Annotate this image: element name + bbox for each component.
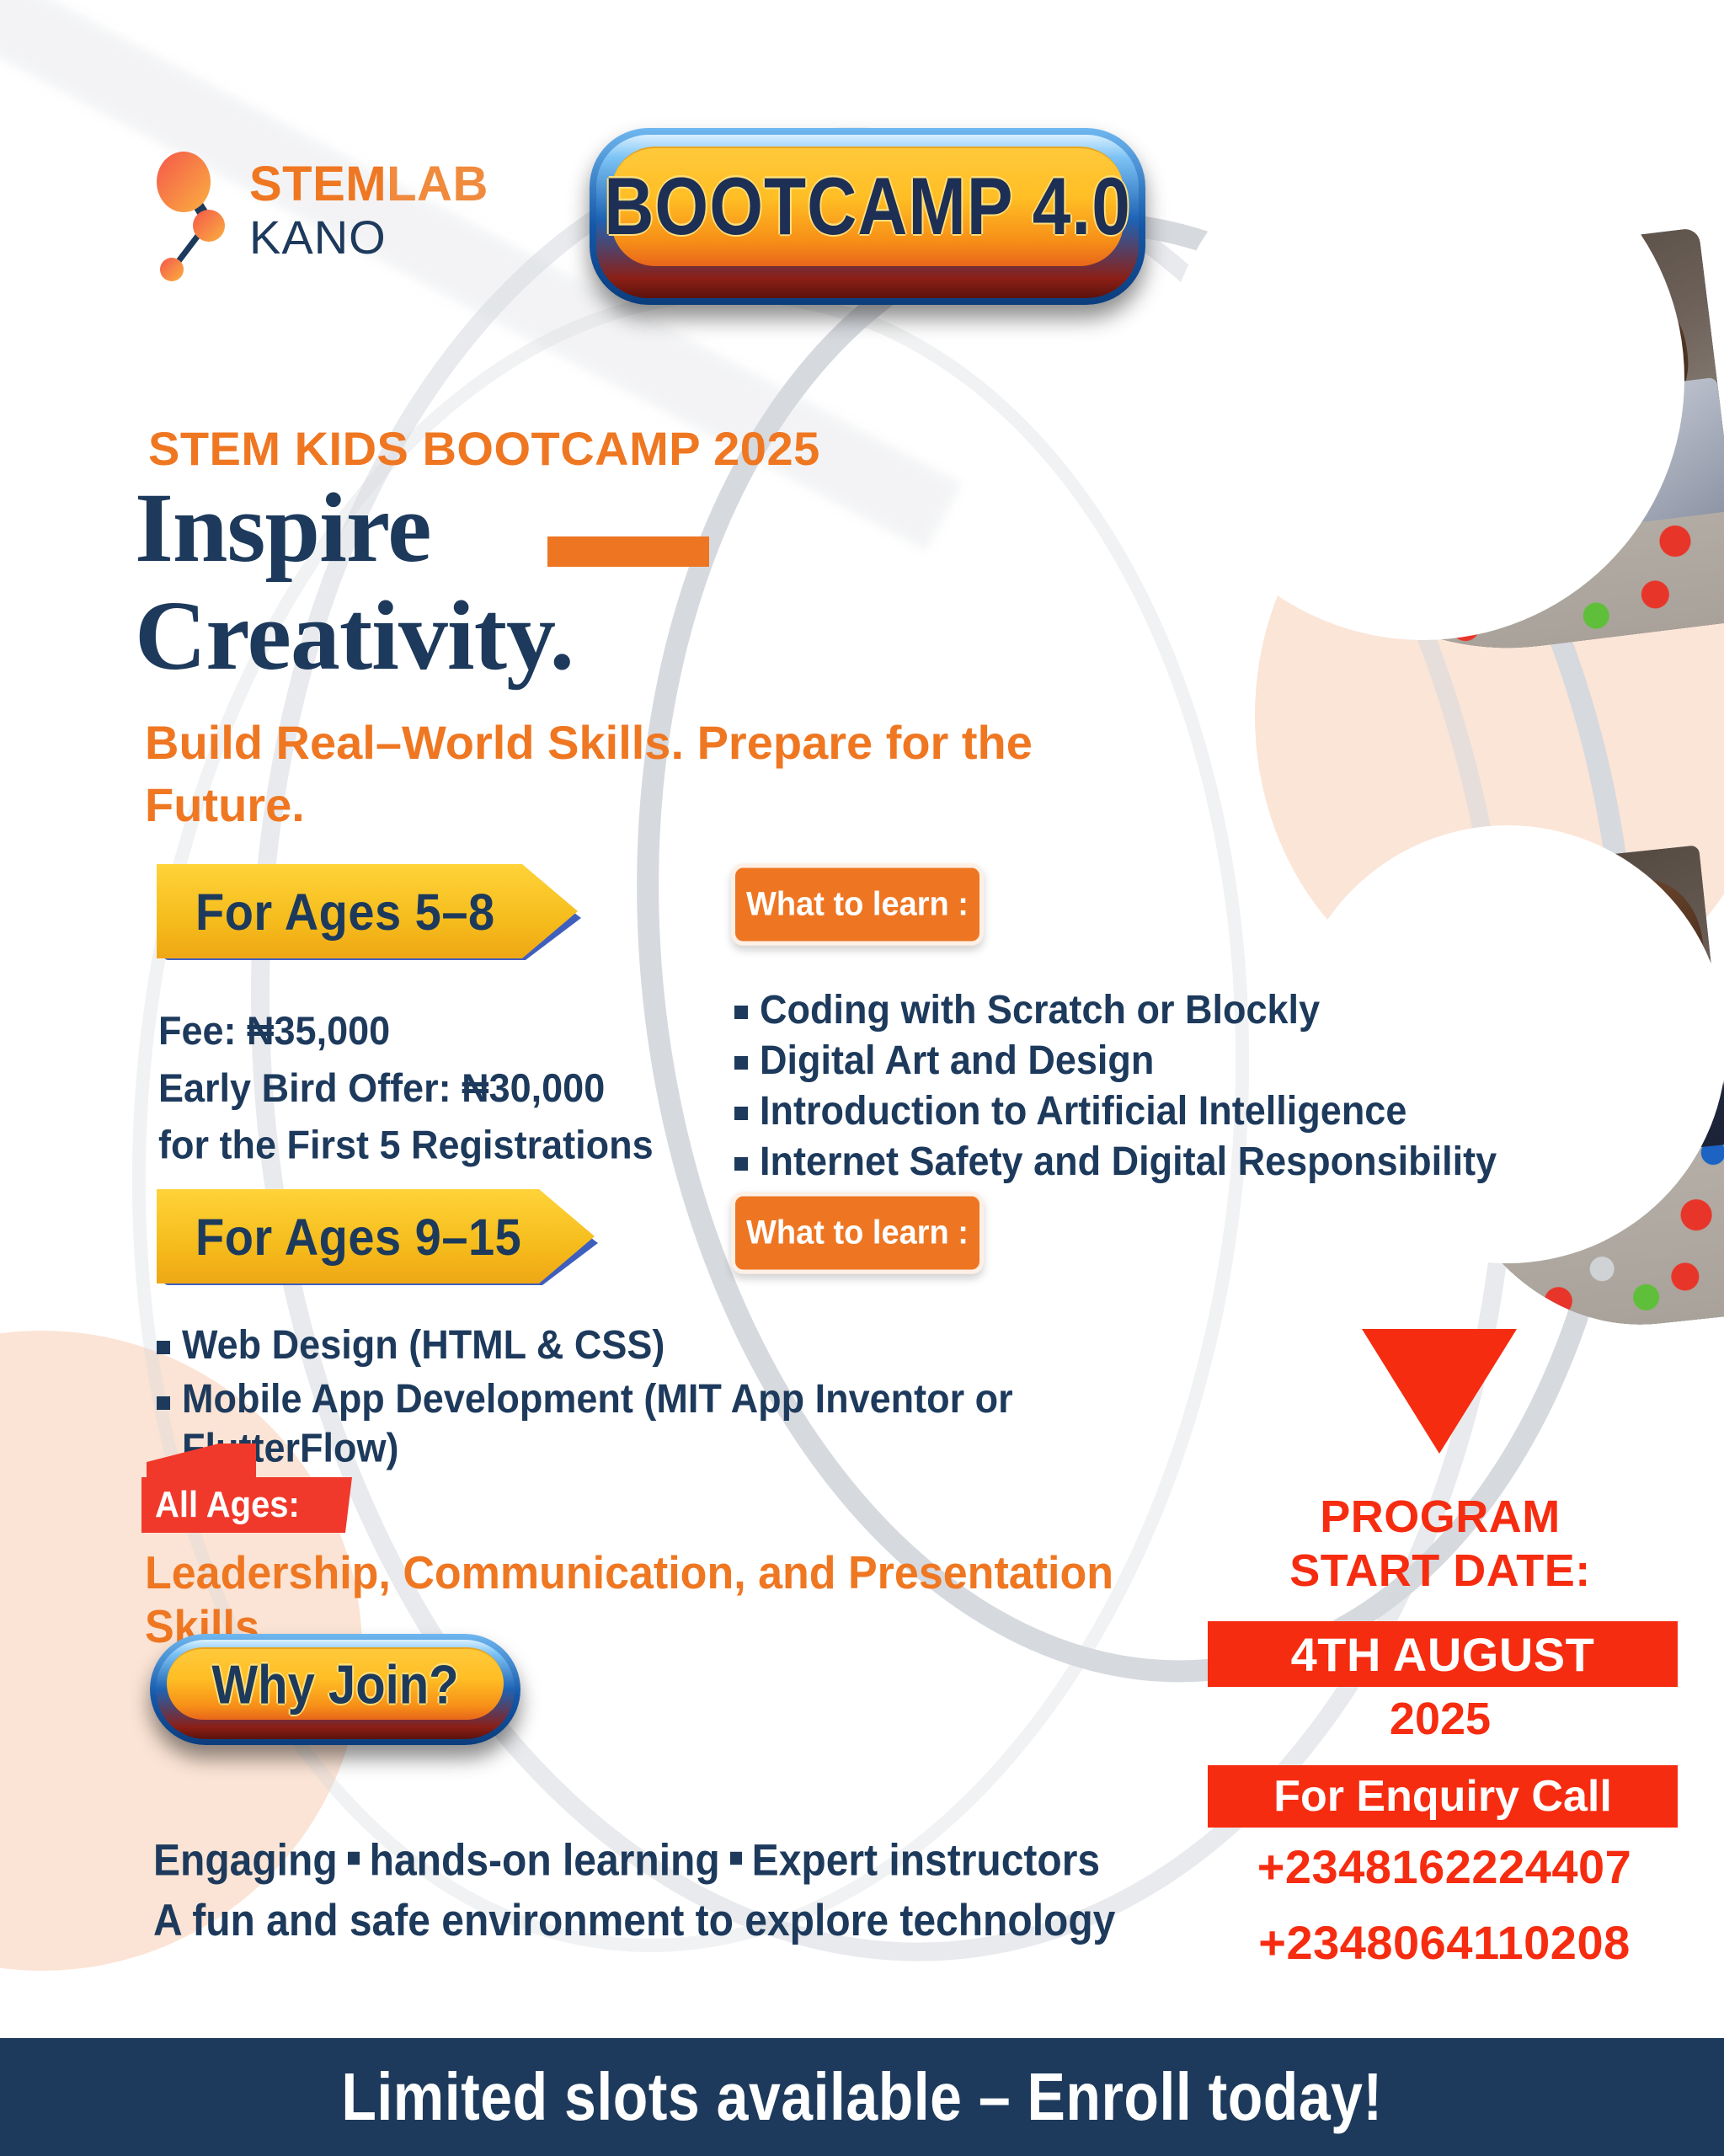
topic-label: Introduction to Artificial Intelligence: [760, 1086, 1406, 1135]
bullet-square-icon: [734, 1157, 748, 1171]
bullet-square-icon: [348, 1852, 360, 1865]
program-title-line-1: PROGRAM: [1204, 1491, 1676, 1545]
all-ages-ribbon: All Ages:: [141, 1444, 495, 1545]
feature-instructors: Expert instructors: [752, 1836, 1100, 1885]
program-start-title: PROGRAM START DATE:: [1204, 1491, 1676, 1598]
age-banner-5-8: For Ages 5–8: [157, 864, 578, 958]
flyer-canvas: STEMLAB KANO BOOTCAMP 4.0 STEM KIDS BOOT…: [0, 0, 1724, 2156]
footer-cta-text: Limited slots available – Enroll today!: [341, 2058, 1382, 2136]
title-line-2: Creativity.: [135, 586, 893, 686]
bootcamp-label: BOOTCAMP 4.0: [604, 161, 1131, 254]
title-line-1: Inspire: [135, 472, 431, 583]
fee-line-2: Early Bird Offer: ₦30,000: [158, 1059, 697, 1117]
features-line-2: A fun and safe environment to explore te…: [153, 1891, 1147, 1951]
age-banner-label-1: For Ages 5–8: [157, 881, 495, 942]
bullet-square-icon: [734, 1056, 748, 1070]
brand-logo: STEMLAB KANO: [148, 141, 544, 302]
bullet-square-icon: [734, 1006, 748, 1019]
footer-banner: Limited slots available – Enroll today!: [0, 2038, 1724, 2156]
list-item: Coding with Scratch or Blockly: [734, 987, 1577, 1033]
list-item: Digital Art and Design: [734, 1038, 1577, 1083]
bullet-square-icon: [730, 1852, 742, 1865]
age-banner-face-2: For Ages 9–15: [157, 1189, 595, 1283]
title-accent-bar: [547, 536, 709, 567]
age-banner-face-1: For Ages 5–8: [157, 864, 578, 958]
topic-label: Web Design (HTML & CSS): [182, 1321, 665, 1369]
topic-label: Internet Safety and Digital Responsibili…: [760, 1137, 1497, 1186]
phone-number-1[interactable]: +2348162224407: [1204, 1839, 1684, 1894]
molecule-icon: [148, 145, 241, 288]
ribbon-body: All Ages:: [141, 1477, 352, 1533]
age-banner-label-2: For Ages 9–15: [157, 1206, 521, 1267]
list-item: Introduction to Artificial Intelligence: [734, 1088, 1577, 1134]
brand-line-2: KANO: [249, 214, 488, 261]
topic-label: Coding with Scratch or Blockly: [760, 985, 1320, 1034]
program-title-line-2: START DATE:: [1204, 1545, 1676, 1598]
bullet-square-icon: [734, 1107, 748, 1120]
enquiry-badge: For Enquiry Call: [1208, 1765, 1678, 1828]
badge-outer-bevel: BOOTCAMP 4.0: [590, 128, 1145, 305]
features-block: Engaginghands-on learningExpert instruct…: [153, 1830, 1147, 1951]
why-join-button[interactable]: Why Join?: [150, 1634, 520, 1745]
phone-number-2[interactable]: +2348064110208: [1204, 1915, 1684, 1970]
what-to-learn-chip-2: What to learn :: [731, 1192, 984, 1274]
brand-wordmark: STEMLAB KANO: [249, 160, 488, 261]
fee-line-3: for the First 5 Registrations: [158, 1117, 697, 1174]
feature-engaging: Engaging: [153, 1836, 338, 1885]
list-item: Web Design (HTML & CSS): [157, 1322, 1209, 1368]
what-to-learn-chip-1: What to learn :: [731, 863, 984, 946]
fee-block: Fee: ₦35,000 Early Bird Offer: ₦30,000 f…: [158, 1002, 697, 1173]
bootcamp-badge: BOOTCAMP 4.0: [590, 128, 1145, 305]
page-title: Inspire Creativity.: [135, 478, 893, 686]
why-join-face: Why Join?: [167, 1647, 504, 1720]
all-ages-label: All Ages:: [141, 1485, 300, 1526]
bullet-square-icon: [157, 1396, 170, 1410]
features-line-1: Engaginghands-on learningExpert instruct…: [153, 1830, 1147, 1891]
why-join-outer-bevel: Why Join?: [150, 1634, 520, 1745]
fee-line-1: Fee: ₦35,000: [158, 1002, 697, 1059]
age-banner-9-15: For Ages 9–15: [157, 1189, 595, 1283]
brand-lab: LAB: [387, 157, 488, 211]
kicker-text: STEM KIDS BOOTCAMP 2025: [148, 421, 820, 476]
bullet-square-icon: [157, 1341, 170, 1354]
start-date-year: 2025: [1204, 1693, 1676, 1745]
triangle-down-icon: [1362, 1329, 1517, 1454]
why-join-label: Why Join?: [211, 1652, 458, 1716]
list-item: Internet Safety and Digital Responsibili…: [734, 1139, 1577, 1184]
topics-list-5-8: Coding with Scratch or Blockly Digital A…: [734, 987, 1577, 1189]
brand-line-1: STEMLAB: [249, 160, 488, 209]
topic-label: Digital Art and Design: [760, 1036, 1154, 1085]
badge-face: BOOTCAMP 4.0: [611, 147, 1124, 266]
subtitle-text: Build Real–World Skills. Prepare for the…: [145, 712, 1054, 836]
feature-hands-on: hands-on learning: [370, 1836, 720, 1885]
brand-stem: STEM: [249, 157, 387, 211]
start-date-badge: 4TH AUGUST: [1208, 1621, 1678, 1687]
photo-top-mask: [1162, 118, 1684, 640]
